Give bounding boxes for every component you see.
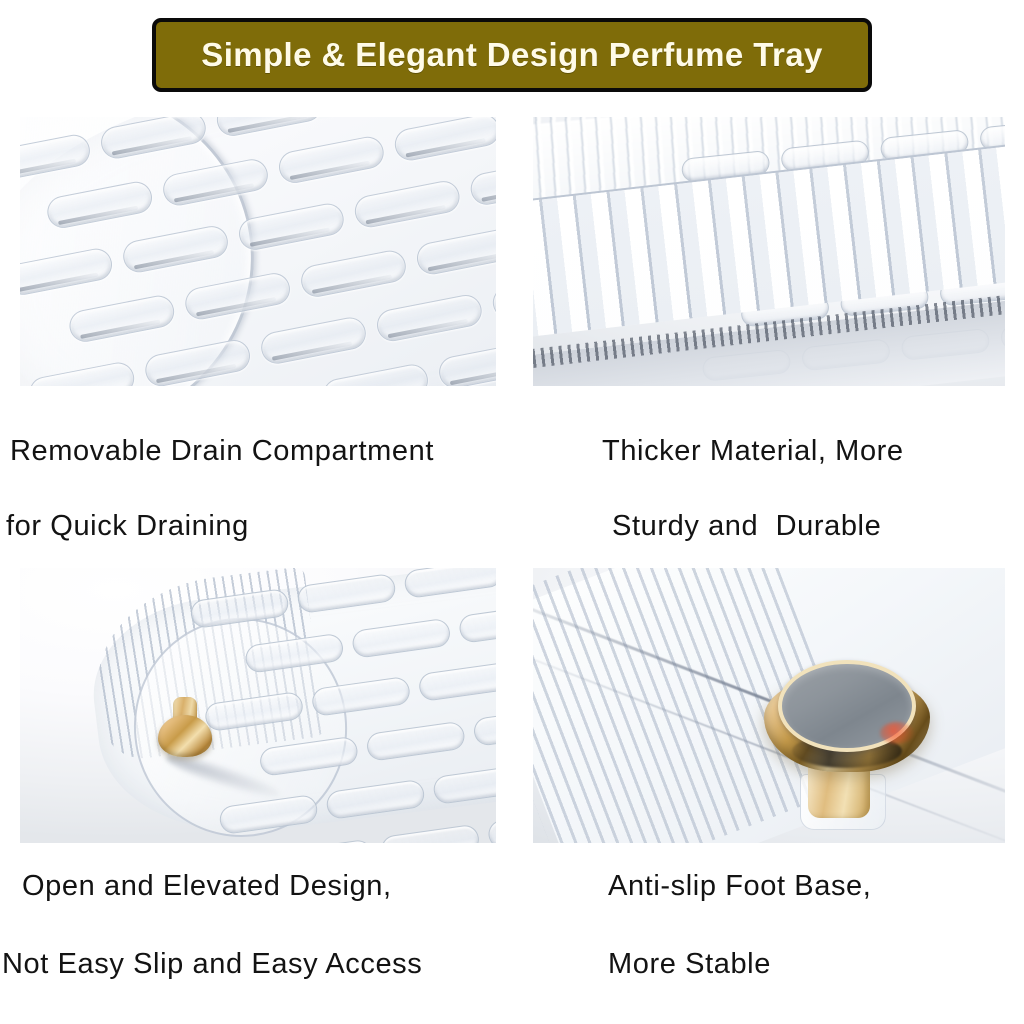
drain-slot xyxy=(352,178,462,230)
drain-slot xyxy=(296,573,397,614)
drain-slot xyxy=(66,293,176,345)
drain-slot xyxy=(392,117,496,163)
drain-slot xyxy=(366,721,467,762)
drain-slot xyxy=(325,779,426,820)
drain-slot xyxy=(432,764,496,805)
caption-anti-slip-line1: Anti-slip Foot Base, xyxy=(608,872,871,901)
drain-slot xyxy=(259,736,360,777)
drain-slot xyxy=(160,156,270,208)
drain-slot xyxy=(98,117,208,161)
photo-content-foot-closeup xyxy=(533,568,1005,843)
caption-thicker-material-line1: Thicker Material, More xyxy=(602,437,904,466)
drain-slot xyxy=(120,223,230,275)
drain-slot xyxy=(418,661,496,702)
caption-thicker-material-line2: Sturdy and Durable xyxy=(612,512,881,541)
infographic-page: Simple & Elegant Design Perfume Tray xyxy=(0,0,1024,1024)
drain-slot xyxy=(403,568,496,599)
caption-open-elevated-line1: Open and Elevated Design, xyxy=(22,872,392,901)
drain-slot xyxy=(244,633,345,674)
feature-image-removable-drain xyxy=(20,117,496,386)
drain-slot xyxy=(298,247,408,299)
caption-open-elevated-line2: Not Easy Slip and Easy Access xyxy=(2,950,422,979)
drain-slot-grid xyxy=(20,117,496,386)
drain-slot xyxy=(487,809,496,843)
caption-anti-slip-line2: More Stable xyxy=(608,950,771,979)
drain-slot xyxy=(236,200,346,252)
drain-slot xyxy=(214,117,324,138)
foot-highlight xyxy=(880,722,914,744)
photo-content-ribbed-wall xyxy=(533,117,1005,386)
drain-slot xyxy=(414,225,496,277)
drain-slot xyxy=(142,337,252,386)
drain-slot xyxy=(458,603,496,644)
drain-slot xyxy=(182,270,292,322)
feature-image-thicker-material xyxy=(533,117,1005,386)
gold-foot-small xyxy=(158,697,212,761)
drain-slot-grid xyxy=(211,568,496,843)
drain-slot xyxy=(351,618,452,659)
page-title: Simple & Elegant Design Perfume Tray xyxy=(201,36,822,74)
drain-slot xyxy=(490,269,496,321)
drain-slot xyxy=(276,134,386,186)
header-banner: Simple & Elegant Design Perfume Tray xyxy=(152,18,872,92)
gold-foot-large xyxy=(764,656,942,826)
drain-slot xyxy=(436,339,496,386)
photo-content-drain-slots xyxy=(20,117,496,386)
caption-removable-drain-line2: for Quick Draining xyxy=(6,512,249,541)
drain-slot xyxy=(258,314,368,366)
drain-slot xyxy=(44,179,154,231)
drain-slot xyxy=(311,676,412,717)
feature-image-anti-slip-foot xyxy=(533,568,1005,843)
feature-image-open-elevated-design xyxy=(20,568,496,843)
caption-removable-drain-line1: Removable Drain Compartment xyxy=(10,437,434,466)
foot-head xyxy=(158,715,212,757)
drain-slot xyxy=(204,384,314,386)
drain-slot xyxy=(467,155,496,207)
photo-content-elevated-tray xyxy=(20,568,496,843)
drain-slot xyxy=(374,292,484,344)
drain-slot xyxy=(20,132,92,184)
drain-slot xyxy=(273,839,374,843)
drain-slot xyxy=(473,706,496,747)
drain-slot xyxy=(380,824,481,843)
drain-slot xyxy=(320,361,430,386)
